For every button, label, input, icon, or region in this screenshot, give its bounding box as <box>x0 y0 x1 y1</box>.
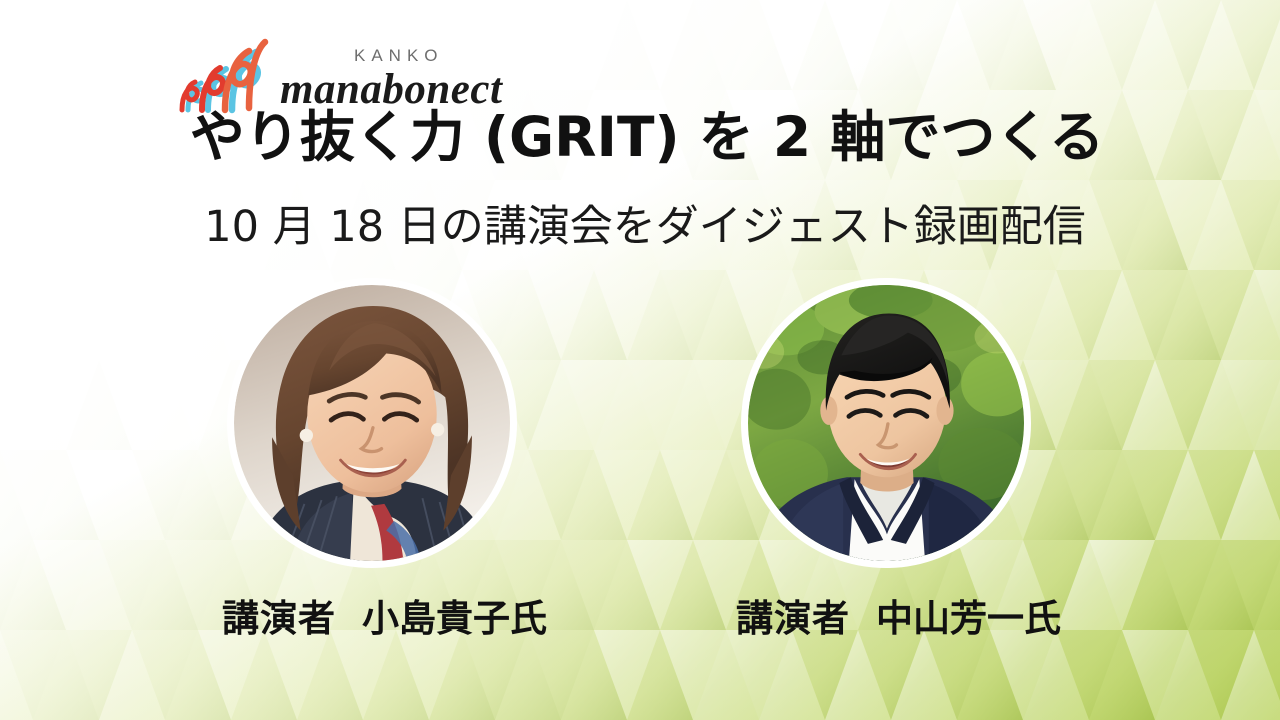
speaker-caption-right: 講演者中山芳一氏 <box>736 598 1036 641</box>
speaker-role-right: 講演者 <box>736 597 850 640</box>
speaker-caption-left: 講演者小島貴子氏 <box>222 598 522 641</box>
brand-logo[interactable]: KANKO manabonect <box>168 22 548 114</box>
speaker-role-left: 講演者 <box>222 597 336 640</box>
banner-canvas: KANKO manabonect やり抜く力 (GRIT) を 2 軸でつくる … <box>0 0 1280 720</box>
speaker-photo-right <box>741 278 1031 568</box>
page-subtitle: 10 月 18 日の講演会をダイジェスト録画配信 <box>0 204 1280 251</box>
speaker-card-left: 講演者小島貴子氏 <box>222 278 522 641</box>
speaker-name-right: 中山芳一氏 <box>876 597 1061 640</box>
speaker-photo-left <box>227 278 517 568</box>
brand-eyebrow: KANKO <box>354 47 502 64</box>
speaker-name-left: 小島貴子氏 <box>362 597 547 640</box>
ribbon-spiral-mark-icon <box>168 36 272 114</box>
speaker-card-right: 講演者中山芳一氏 <box>736 278 1036 641</box>
page-title: やり抜く力 (GRIT) を 2 軸でつくる <box>0 108 1280 167</box>
